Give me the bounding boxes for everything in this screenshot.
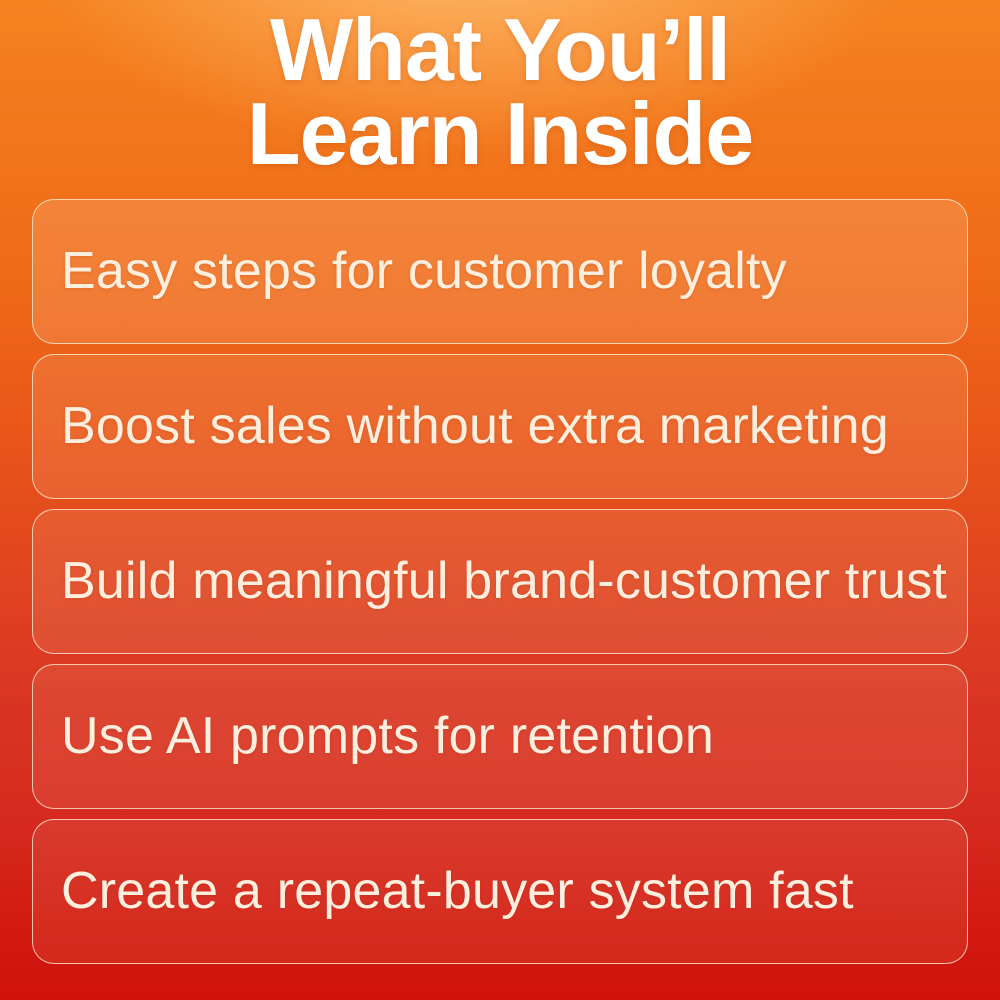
page-title-line-1: What You’ll (0, 8, 1000, 92)
benefit-card-list: Easy steps for customer loyalty Boost sa… (32, 199, 968, 964)
benefit-card[interactable]: Easy steps for customer loyalty (32, 199, 968, 344)
benefit-card-label: Create a repeat-buyer system fast (61, 864, 854, 919)
benefit-card-label: Easy steps for customer loyalty (61, 244, 787, 299)
benefit-card[interactable]: Use AI prompts for retention (32, 664, 968, 809)
page-title: What You’ll Learn Inside (0, 8, 1000, 176)
benefit-card-label: Boost sales without extra marketing (61, 399, 889, 454)
benefit-card[interactable]: Build meaningful brand-customer trust (32, 509, 968, 654)
benefit-card-label: Build meaningful brand-customer trust (61, 554, 947, 609)
page-title-line-2: Learn Inside (0, 92, 1000, 176)
benefit-card-label: Use AI prompts for retention (61, 709, 714, 764)
poster-canvas: What You’ll Learn Inside Easy steps for … (0, 0, 1000, 1000)
benefit-card[interactable]: Boost sales without extra marketing (32, 354, 968, 499)
benefit-card[interactable]: Create a repeat-buyer system fast (32, 819, 968, 964)
